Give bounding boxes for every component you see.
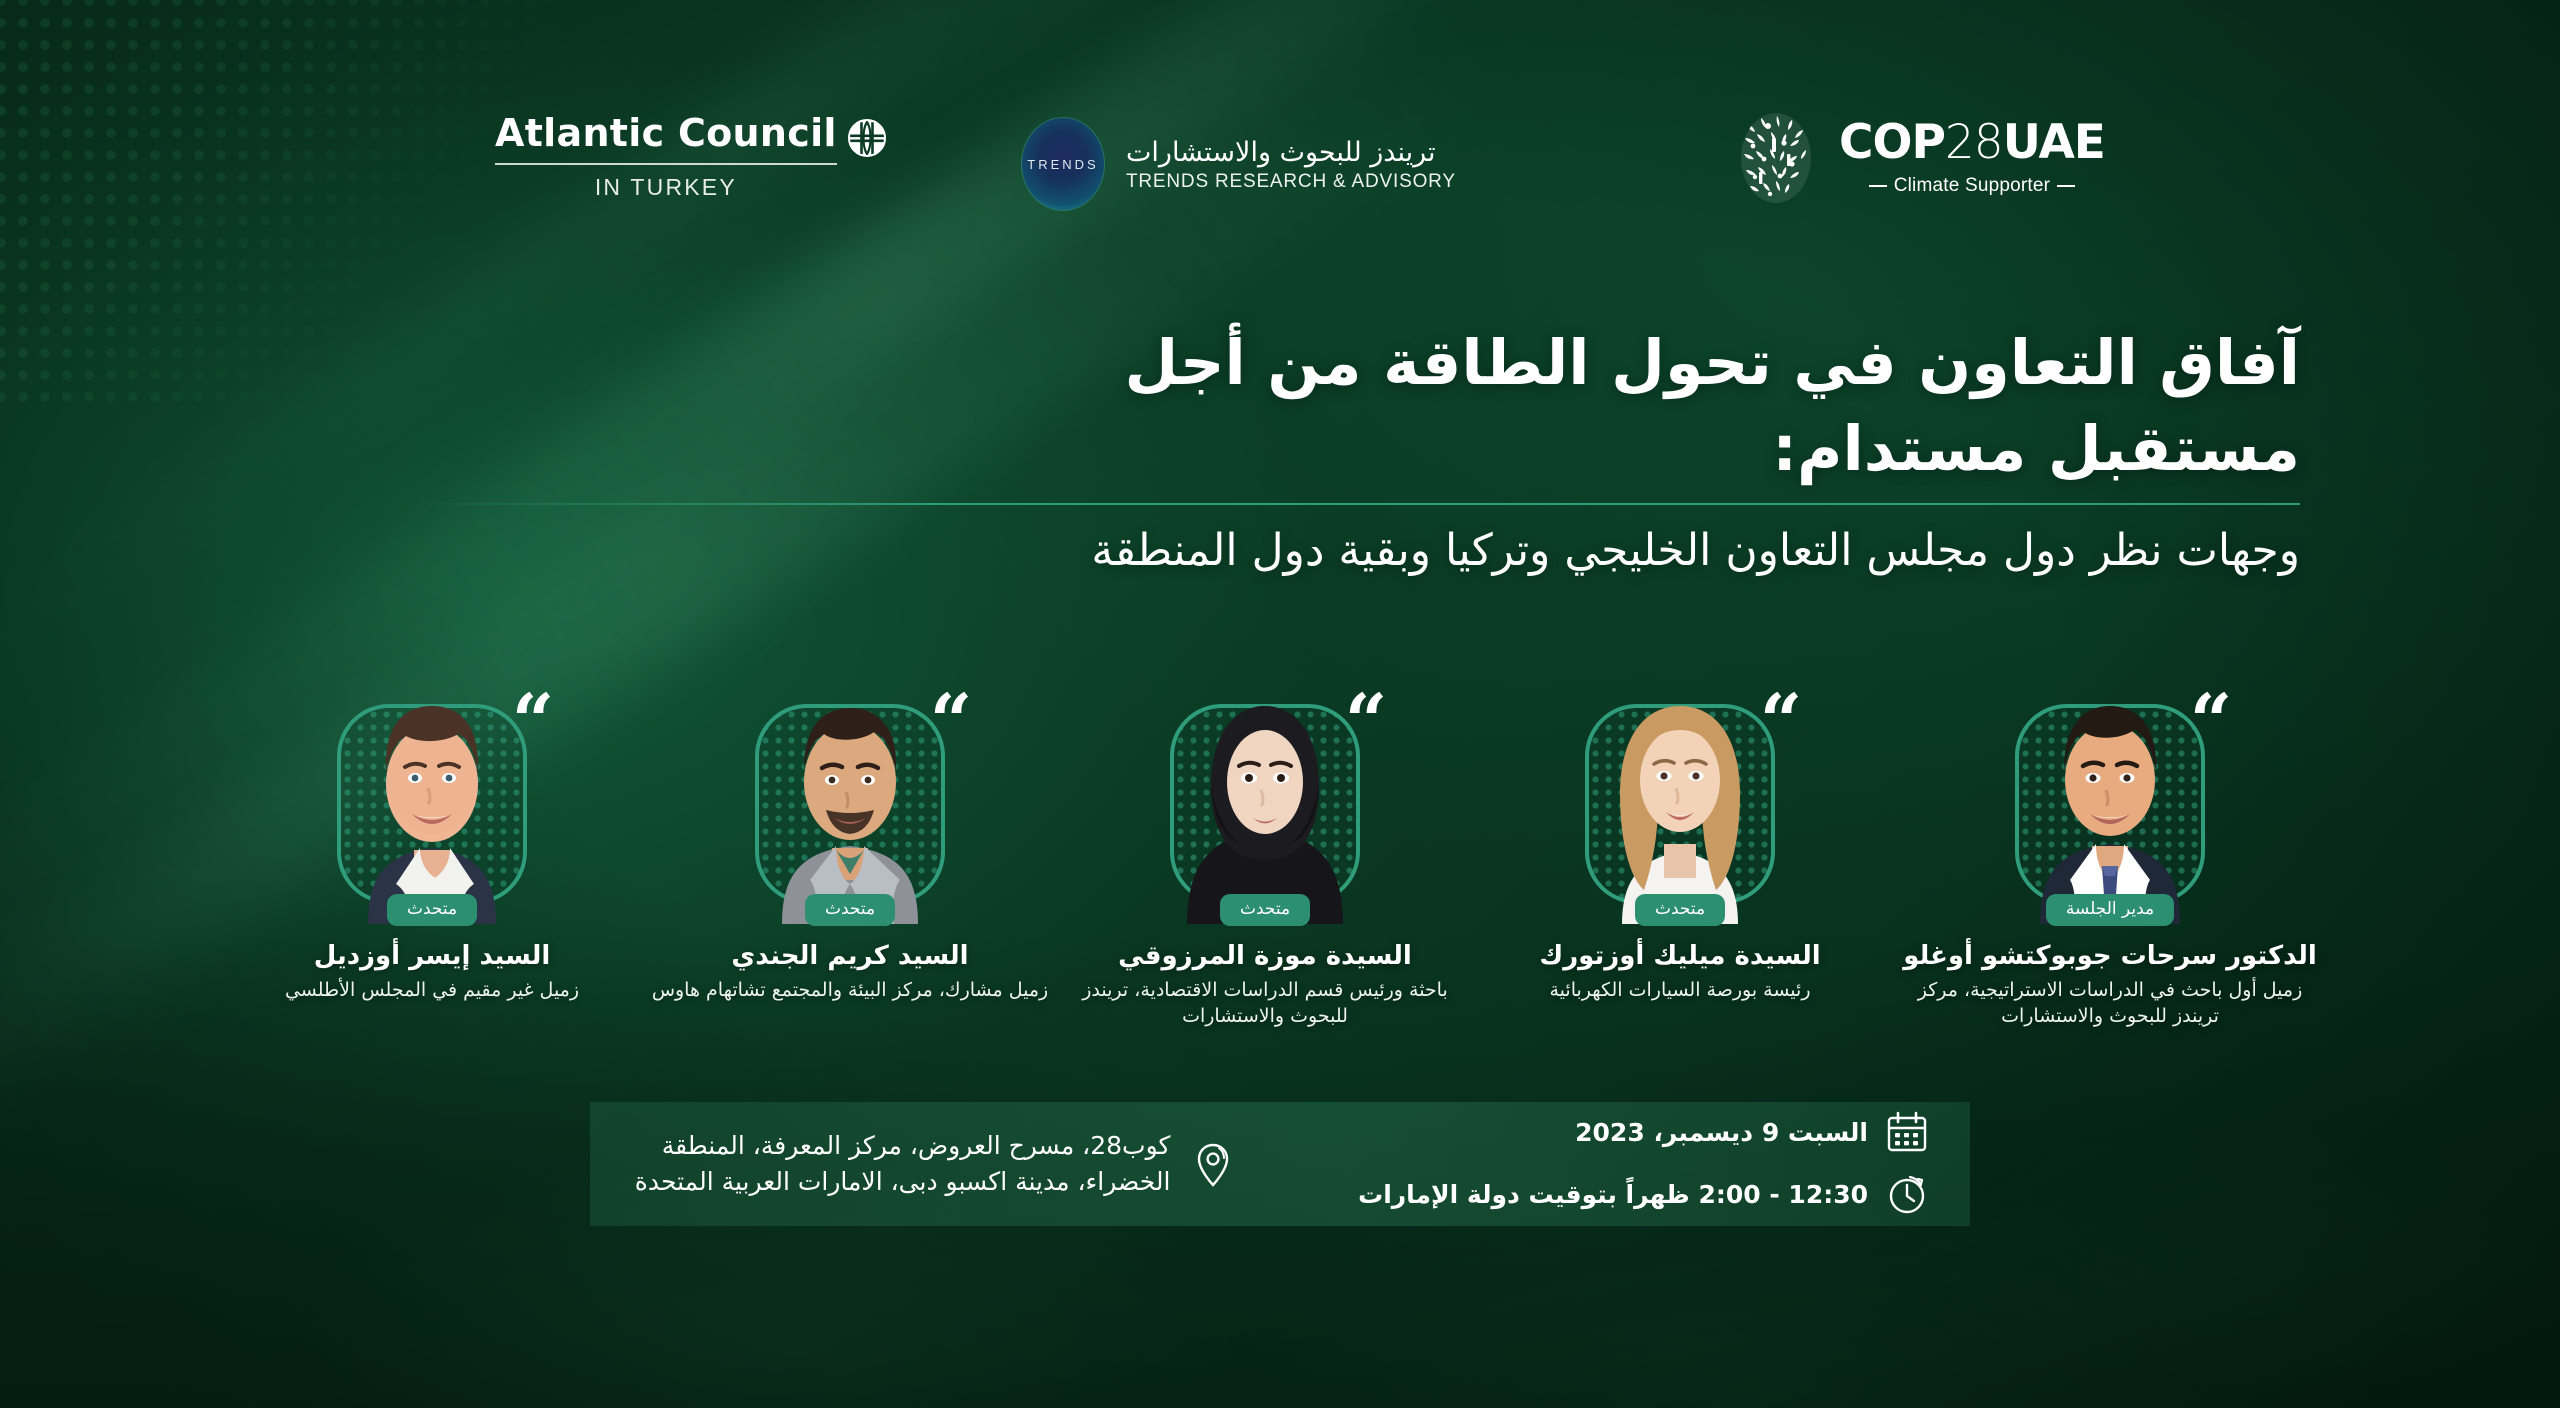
speaker-photo-area: “ متحدث (222, 636, 642, 924)
speaker-card: “ متحدث السيد إيسر أوزديل زميل غير مقيم … (222, 636, 642, 1003)
date-time-lines: السبت 9 ديسمبر، 2023 12:30 - 2:00 ظهراً … (1358, 1109, 1930, 1219)
calendar-icon (1884, 1109, 1930, 1157)
trends-arabic-name: تريندز للبحوث والاستشارات (1126, 135, 1436, 171)
cop28-tagline-row: Climate Supporter (1869, 175, 2076, 197)
event-time: 12:30 - 2:00 ظهراً بتوقيت دولة الإمارات (1358, 1179, 1868, 1212)
speaker-portrait (1596, 654, 1764, 924)
speaker-badge: متحدث (1055, 894, 1475, 926)
speaker-badge: مدير الجلسة (1900, 894, 2320, 926)
tagline-rule-left (1869, 185, 1887, 187)
speaker-portrait (1181, 654, 1349, 924)
trends-logo: تريندز للبحوث والاستشارات TRENDS RESEARC… (1022, 118, 1456, 210)
trends-english-name: TRENDS RESEARCH & ADVISORY (1126, 171, 1456, 193)
speaker-photo-area: “ متحدث (640, 636, 1060, 924)
date-row: السبت 9 ديسمبر، 2023 (1358, 1109, 1930, 1157)
speaker-role: باحثة ورئيس قسم الدراسات الاقتصادية، تري… (1055, 977, 1475, 1029)
quote-mark-icon: “ (928, 694, 974, 738)
cop28-wreath-icon (1737, 110, 1815, 206)
event-subtitle: وجهات نظر دول مجلس التعاون الخليجي وتركي… (400, 521, 2300, 580)
title-divider (400, 503, 2300, 505)
speaker-badge-label: متحدث (1635, 894, 1725, 926)
cop28-cop-text: COP (1839, 115, 1945, 170)
speaker-name: السيد كريم الجندي (640, 940, 1060, 973)
event-date: السبت 9 ديسمبر، 2023 (1575, 1117, 1868, 1150)
speaker-photo-area: “ متحدث (1470, 636, 1890, 924)
map-pin-icon (1190, 1140, 1236, 1188)
cop28-country: UAE (2003, 115, 2105, 170)
cop28-title: COP28UAE (1839, 119, 2105, 166)
speaker-badge-label: متحدث (805, 894, 895, 926)
event-info-panel: السبت 9 ديسمبر، 2023 12:30 - 2:00 ظهراً … (590, 1102, 1970, 1226)
trends-orb-label: TRENDS (1027, 157, 1098, 172)
event-title-line2: مستقبل مستدام: (400, 406, 2300, 492)
speaker-role: رئيسة بورصة السيارات الكهربائية (1470, 977, 1890, 1003)
speaker-card: “ مدير الجلسة الدكتور سرحات جوبوكتشو أوغ… (1900, 636, 2320, 1029)
quote-mark-icon: “ (1758, 694, 1804, 738)
quote-mark-icon: “ (510, 694, 556, 738)
speaker-photo-area: “ متحدث (1055, 636, 1475, 924)
event-title-line1: آفاق التعاون في تحول الطاقة من أجل (400, 320, 2300, 406)
speaker-name: السيدة موزة المرزوقي (1055, 940, 1475, 973)
speaker-badge-label: متحدث (1220, 894, 1310, 926)
speaker-portrait (2026, 654, 2194, 924)
globe-icon (847, 118, 887, 158)
speaker-role: زميل غير مقيم في المجلس الأطلسي (222, 977, 642, 1003)
trends-orb-icon: TRENDS (1022, 118, 1104, 210)
quote-mark-icon: “ (1343, 694, 1389, 738)
speakers-row: “ متحدث السيد إيسر أوزديل زميل غير مقيم … (0, 636, 2560, 1056)
atlantic-council-divider (495, 163, 837, 165)
speaker-portrait (766, 654, 934, 924)
cop28-tagline: Climate Supporter (1894, 175, 2051, 197)
tagline-rule-right (2057, 185, 2075, 187)
atlantic-council-logo: Atlantic Council IN TURKEY (495, 114, 887, 201)
speaker-badge: متحدث (640, 894, 1060, 926)
atlantic-council-name: Atlantic Council (495, 114, 837, 152)
speaker-badge-label: مدير الجلسة (2046, 894, 2174, 926)
atlantic-council-subtitle: IN TURKEY (495, 174, 837, 201)
speaker-badge: متحدث (222, 894, 642, 926)
location-column: كوب28، مسرح العروض، مركز المعرفة، المنطق… (590, 1102, 1252, 1226)
speaker-card: “ متحدث السيد كريم الجندي زميل مشارك، مر… (640, 636, 1060, 1003)
clock-icon (1884, 1171, 1930, 1219)
speaker-badge-label: متحدث (387, 894, 477, 926)
speaker-role: زميل أول باحث في الدراسات الاستراتيجية، … (1900, 977, 2320, 1029)
speaker-photo-area: “ مدير الجلسة (1900, 636, 2320, 924)
title-block: آفاق التعاون في تحول الطاقة من أجل مستقب… (400, 320, 2300, 580)
quote-mark-icon: “ (2188, 694, 2234, 738)
poster-canvas: Atlantic Council IN TURKEY تريندز للبحوث… (0, 0, 2560, 1408)
speaker-portrait (348, 654, 516, 924)
speaker-role: زميل مشارك، مركز البيئة والمجتمع تشاتهام… (640, 977, 1060, 1003)
cop28-logo: COP28UAE Climate Supporter (1737, 110, 2105, 206)
cop28-number: 28 (1945, 115, 2003, 170)
logo-bar: Atlantic Council IN TURKEY تريندز للبحوث… (0, 106, 2560, 236)
speaker-card: “ متحدث السيدة موزة المرزوقي باحثة ورئيس… (1055, 636, 1475, 1029)
speaker-name: الدكتور سرحات جوبوكتشو أوغلو (1900, 940, 2320, 973)
date-time-column: السبت 9 ديسمبر، 2023 12:30 - 2:00 ظهراً … (1252, 1102, 1970, 1226)
speaker-name: السيدة ميليك أوزتورك (1470, 940, 1890, 973)
speaker-card: “ متحدث السيدة ميليك أوزتورك رئيسة بورصة… (1470, 636, 1890, 1003)
speaker-badge: متحدث (1470, 894, 1890, 926)
event-location: كوب28، مسرح العروض، مركز المعرفة، المنطق… (590, 1128, 1170, 1201)
time-row: 12:30 - 2:00 ظهراً بتوقيت دولة الإمارات (1358, 1171, 1930, 1219)
speaker-name: السيد إيسر أوزديل (222, 940, 642, 973)
